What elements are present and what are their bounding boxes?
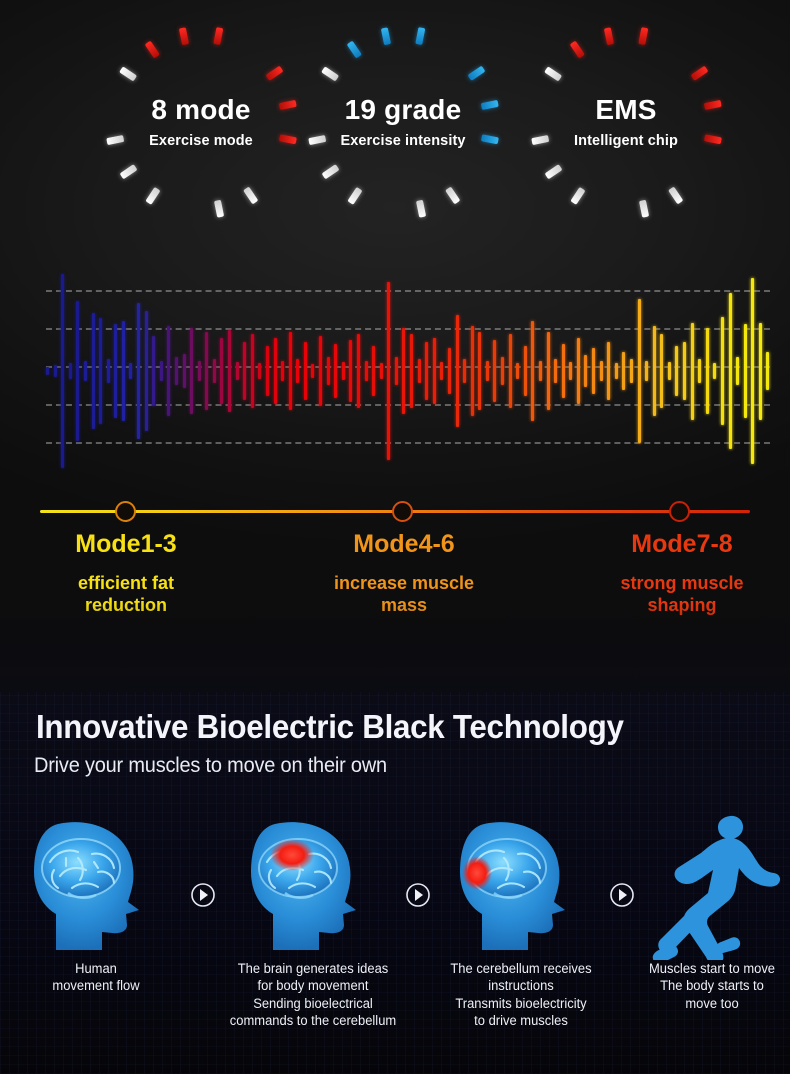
dial-segment	[144, 40, 159, 58]
flow-caption-3: The cerebellum receives instructions Tra…	[436, 960, 607, 1029]
waveform-bar	[99, 318, 102, 425]
waveform-bar	[440, 362, 443, 379]
waveform-bar	[675, 346, 678, 396]
waveform-bar	[190, 328, 193, 413]
dial-segment	[178, 27, 188, 45]
waveform-bar	[251, 334, 254, 408]
waveform-bar	[304, 342, 307, 400]
flow-step-4: Muscles start to move The body starts to…	[636, 810, 788, 1012]
waveform-bar	[122, 321, 125, 422]
caption-line: Transmits bioelectricity	[436, 995, 607, 1012]
waveform-bars	[46, 268, 774, 474]
waveform-bar	[516, 363, 519, 379]
caption-line: to drive muscles	[436, 1012, 607, 1029]
waveform-bar	[236, 362, 239, 379]
waveform-bar	[387, 282, 390, 460]
waveform-bar	[418, 359, 421, 382]
dial-label: Intelligent chip	[518, 133, 734, 149]
dial-label: Exercise mode	[93, 133, 309, 149]
waveform-bar	[751, 278, 754, 464]
page-headline: Innovative Bioelectric Black Technology	[36, 708, 733, 746]
dial-segment	[668, 186, 683, 204]
waveform-bar	[243, 342, 246, 400]
dial-segment	[544, 66, 562, 81]
waveform-bar	[622, 352, 625, 391]
timeline-desc-line2: shaping	[566, 594, 790, 617]
process-flow: Human movement flow	[0, 810, 790, 1074]
timeline-dot-3[interactable]	[669, 501, 690, 522]
waveform-bar	[744, 324, 747, 417]
timeline-desc-line1: strong muscle	[566, 572, 790, 595]
dial-segment	[380, 27, 390, 45]
waveform-bar	[213, 359, 216, 382]
waveform-bar	[463, 359, 466, 382]
waveform-bar	[486, 361, 489, 380]
waveform-bar	[584, 355, 587, 386]
waveform-bar	[129, 363, 132, 379]
waveform-bar	[183, 354, 186, 389]
waveform-bar	[721, 317, 724, 426]
dial-text: 8 mode Exercise mode	[93, 95, 309, 149]
waveform-bar	[713, 363, 716, 379]
caption-line: instructions	[436, 977, 607, 994]
waveform-bar	[205, 332, 208, 410]
waveform-bar	[175, 357, 178, 384]
waveform-bar	[334, 344, 337, 398]
waveform-bar	[645, 361, 648, 380]
waveform-bar	[433, 338, 436, 404]
waveform-bar	[152, 336, 155, 406]
waveform-bar	[592, 348, 595, 395]
waveform-bar	[638, 299, 641, 443]
waveform-bar	[145, 311, 148, 431]
caption-line: for body movement	[222, 977, 404, 994]
dial-segment	[321, 164, 339, 179]
dial-segment	[119, 66, 137, 81]
dial-segment	[467, 65, 485, 80]
timeline-desc-line1: increase muscle	[288, 572, 520, 595]
waveform-bar	[448, 348, 451, 395]
waveform-bar	[46, 367, 49, 375]
waveform-bar	[691, 323, 694, 420]
waveform-bar	[478, 332, 481, 410]
waveform-bar	[54, 365, 57, 377]
waveform-bar	[501, 357, 504, 384]
dial-segment	[321, 66, 339, 81]
waveform-bar	[274, 338, 277, 404]
waveform-bar	[342, 362, 345, 379]
waveform-bar	[84, 361, 87, 380]
dial-value: 8 mode	[93, 95, 309, 124]
flow-step-3: The cerebellum receives instructions Tra…	[432, 810, 610, 1029]
waveform-bar	[554, 359, 557, 382]
waveform-bar	[577, 338, 580, 404]
waveform-bar	[228, 330, 231, 411]
waveform-bar	[114, 324, 117, 417]
waveform-bar	[653, 326, 656, 415]
dial-segment	[213, 27, 223, 45]
dial-segment	[346, 40, 361, 58]
dial-segment	[415, 27, 425, 45]
waveform-bar	[660, 334, 663, 408]
dial-segment	[690, 65, 708, 80]
timeline-desc: strong muscle shaping	[566, 572, 790, 617]
timeline-title: Mode1-3	[10, 530, 242, 559]
dial-segment	[603, 27, 613, 45]
head-brain-blue-icon	[6, 810, 186, 960]
runner-silhouette-icon	[636, 810, 788, 960]
caption-line: The brain generates ideas	[222, 960, 404, 977]
caption-line: Sending bioelectrical	[222, 995, 404, 1012]
waveform-bar	[76, 301, 79, 441]
waveform-bar	[630, 359, 633, 382]
lower-section: Innovative Bioelectric Black Technology …	[0, 692, 790, 1074]
waveform-bar	[289, 332, 292, 410]
dial-value: 19 grade	[295, 95, 511, 124]
waveform-bar	[137, 303, 140, 439]
waveform-bar	[395, 357, 398, 384]
waveform-bar	[547, 332, 550, 410]
waveform-bar	[539, 361, 542, 380]
waveform-bar	[410, 334, 413, 408]
dial-segment	[570, 186, 585, 204]
waveform-bar	[683, 342, 686, 400]
page-subheadline: Drive your muscles to move on their own	[34, 754, 733, 778]
waveform-bar	[493, 340, 496, 402]
waveform-bar	[349, 340, 352, 402]
timeline-desc: increase muscle mass	[288, 572, 520, 617]
waveform-bar	[524, 346, 527, 396]
flow-caption-1: Human movement flow	[10, 960, 183, 995]
waveform-bar	[220, 338, 223, 404]
waveform-bar	[281, 361, 284, 380]
timeline-item-mode7-8: Mode7-8 strong muscle shaping	[566, 530, 790, 617]
waveform-bar	[425, 342, 428, 400]
dial-text: EMS Intelligent chip	[518, 95, 734, 149]
dial-text: 19 grade Exercise intensity	[295, 95, 511, 149]
dial-segment	[544, 164, 562, 179]
timeline-item-mode1-3: Mode1-3 efficient fat reduction	[10, 530, 242, 617]
waveform-bar	[509, 334, 512, 408]
dial-exercise-mode: 8 mode Exercise mode	[93, 16, 309, 228]
timeline-item-mode4-6: Mode4-6 increase muscle mass	[288, 530, 520, 617]
dial-segment	[265, 65, 283, 80]
waveform-bar	[736, 357, 739, 384]
timeline-desc: efficient fat reduction	[10, 572, 242, 617]
head-brain-red-cortex-icon	[218, 810, 408, 960]
waveform-bar	[198, 361, 201, 380]
timeline-dot-1[interactable]	[115, 501, 136, 522]
waveform-bar	[569, 362, 572, 379]
caption-line: The cerebellum receives	[436, 960, 607, 977]
timeline-desc-line1: efficient fat	[10, 572, 242, 595]
waveform-bar	[380, 363, 383, 379]
timeline-title: Mode4-6	[288, 530, 520, 559]
waveform-bar	[562, 344, 565, 398]
chevron-right-circle-icon	[405, 882, 431, 908]
dial-segment	[119, 164, 137, 179]
waveform-bar	[327, 357, 330, 384]
upper-section: 8 mode Exercise mode 19 grade Exercise i…	[0, 0, 790, 692]
waveform-chart	[0, 268, 790, 474]
waveform-bar	[258, 363, 261, 379]
mode-timeline: Mode1-3 efficient fat reduction Mode4-6 …	[0, 492, 790, 662]
dial-exercise-intensity: 19 grade Exercise intensity	[295, 16, 511, 228]
dial-segment	[415, 199, 425, 217]
timeline-desc-line2: mass	[288, 594, 520, 617]
chevron-right-circle-icon	[609, 882, 635, 908]
waveform-bar	[402, 328, 405, 413]
dial-intelligent-chip: EMS Intelligent chip	[518, 16, 734, 228]
waveform-bar	[729, 293, 732, 448]
dial-segment	[638, 27, 648, 45]
dial-segment	[213, 199, 223, 217]
head-brain-red-cerebellum-icon	[432, 810, 610, 960]
waveform-bar	[319, 336, 322, 406]
caption-line: Human	[10, 960, 183, 977]
dial-label: Exercise intensity	[295, 133, 511, 149]
infographic-page: 8 mode Exercise mode 19 grade Exercise i…	[0, 0, 790, 1074]
waveform-bar	[668, 362, 671, 379]
flow-step-2: The brain generates ideas for body movem…	[218, 810, 408, 1029]
dial-segment	[243, 186, 258, 204]
waveform-bar	[607, 342, 610, 400]
waveform-bar	[456, 315, 459, 428]
caption-line: move too	[639, 995, 785, 1012]
flow-caption-2: The brain generates ideas for body movem…	[222, 960, 404, 1029]
waveform-bar	[61, 274, 64, 468]
dial-segment	[145, 186, 160, 204]
flow-caption-4: Muscles start to move The body starts to…	[639, 960, 785, 1012]
waveform-bar	[766, 352, 769, 391]
waveform-bar	[759, 323, 762, 420]
dial-segment	[638, 199, 648, 217]
dial-segment	[347, 186, 362, 204]
caption-line: Muscles start to move	[639, 960, 785, 977]
dial-segment	[445, 186, 460, 204]
waveform-bar	[167, 326, 170, 415]
waveform-bar	[311, 364, 314, 378]
waveform-bar	[471, 326, 474, 415]
flow-step-1: Human movement flow	[6, 810, 186, 995]
waveform-bar	[160, 361, 163, 380]
caption-line: commands to the cerebellum	[222, 1012, 404, 1029]
waveform-bar	[357, 334, 360, 408]
caption-line: The body starts to	[639, 977, 785, 994]
dial-segment	[569, 40, 584, 58]
waveform-bar	[266, 346, 269, 396]
waveform-bar	[706, 328, 709, 413]
waveform-bar	[296, 359, 299, 382]
waveform-bar	[698, 359, 701, 382]
feature-dials: 8 mode Exercise mode 19 grade Exercise i…	[0, 16, 790, 231]
caption-line: movement flow	[10, 977, 183, 994]
timeline-dot-2[interactable]	[392, 501, 413, 522]
waveform-bar	[107, 359, 110, 382]
chevron-right-circle-icon	[190, 882, 216, 908]
waveform-bar	[615, 363, 618, 379]
waveform-bar	[600, 361, 603, 380]
timeline-title: Mode7-8	[566, 530, 790, 559]
waveform-bar	[69, 363, 72, 379]
waveform-bar	[531, 321, 534, 422]
waveform-bar	[365, 361, 368, 380]
waveform-bar	[92, 313, 95, 429]
timeline-desc-line2: reduction	[10, 594, 242, 617]
waveform-bar	[372, 346, 375, 396]
dial-value: EMS	[518, 95, 734, 124]
